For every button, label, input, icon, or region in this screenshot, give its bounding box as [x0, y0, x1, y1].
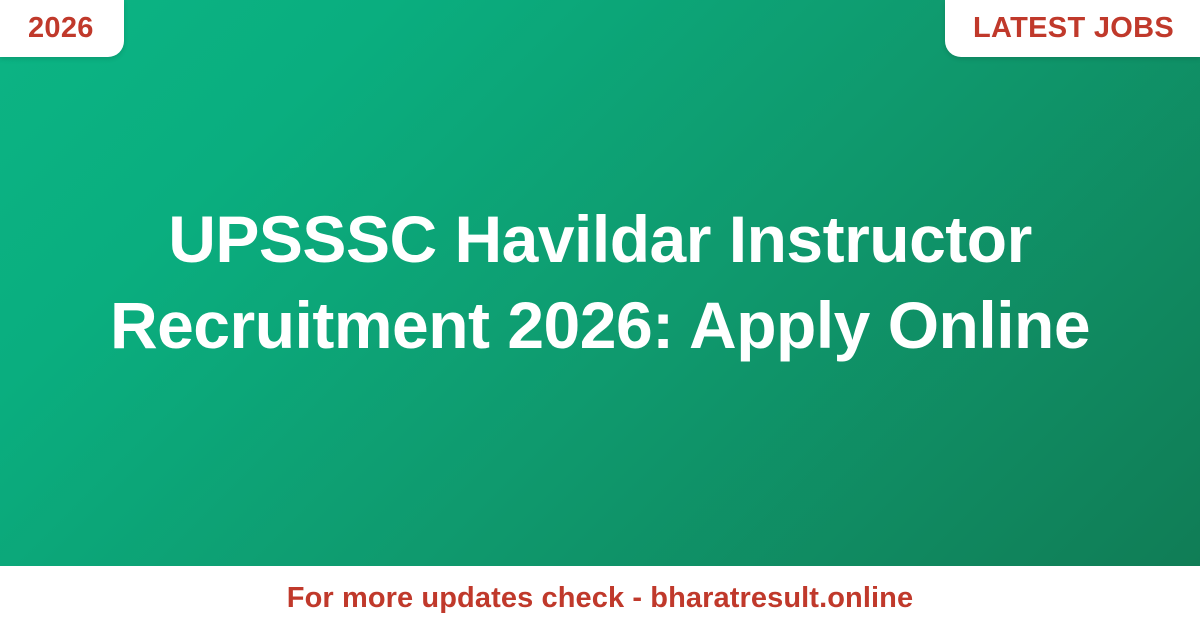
hero-title-container: UPSSSC Havildar Instructor Recruitment 2… [0, 0, 1200, 566]
category-badge-label: LATEST JOBS [973, 14, 1174, 43]
year-badge-label: 2026 [28, 14, 94, 43]
year-badge: 2026 [0, 0, 124, 57]
page-title: UPSSSC Havildar Instructor Recruitment 2… [60, 197, 1140, 369]
category-badge: LATEST JOBS [945, 0, 1200, 57]
poster-banner: 2026 LATEST JOBS UPSSSC Havildar Instruc… [0, 0, 1200, 630]
footer-website-text: For more updates check - bharatresult.on… [287, 584, 913, 613]
footer-bar: For more updates check - bharatresult.on… [0, 566, 1200, 630]
